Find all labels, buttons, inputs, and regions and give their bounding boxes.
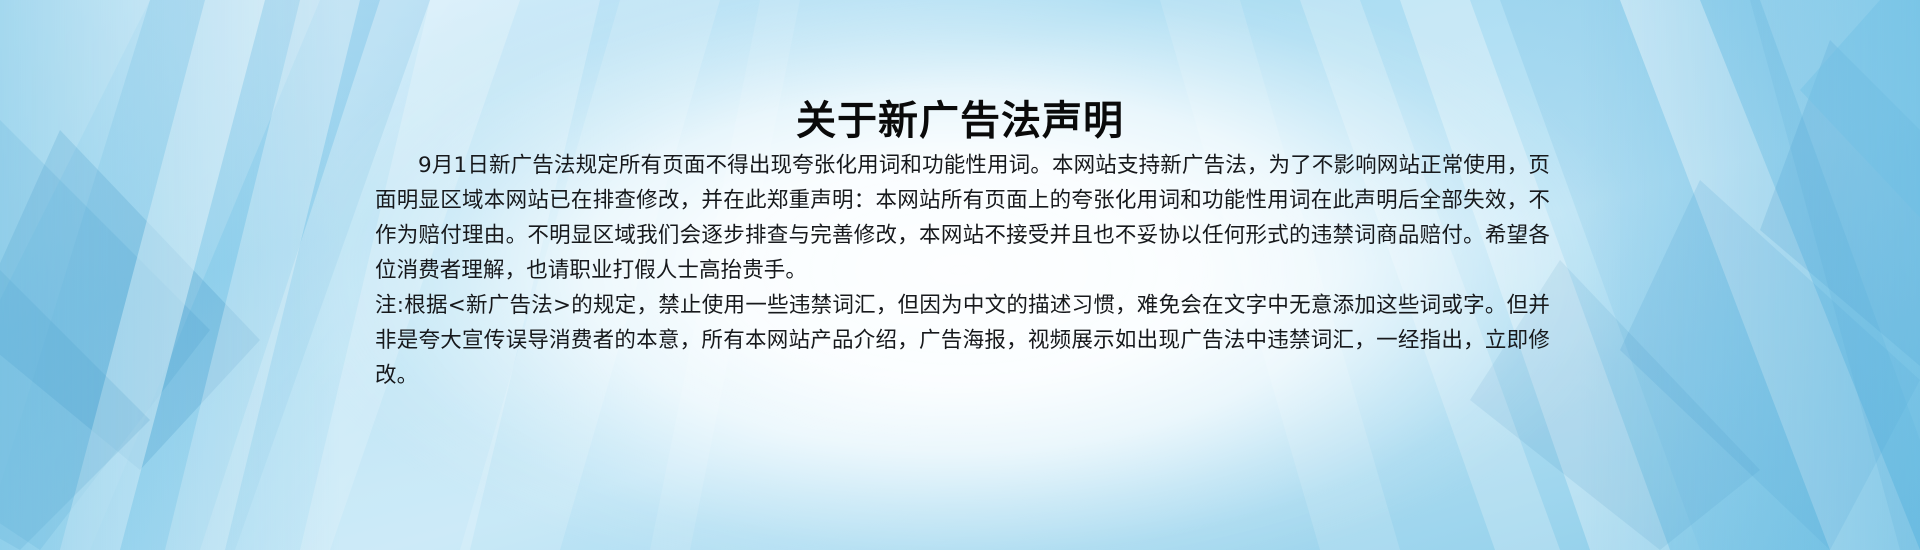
- statement-paragraph-note: 注:根据<新广告法>的规定，禁止使用一些违禁词汇，但因为中文的描述习惯，难免会在…: [375, 288, 1550, 393]
- advertising-law-statement-banner: 关于新广告法声明 9月1日新广告法规定所有页面不得出现夸张化用词和功能性用词。本…: [0, 0, 1920, 550]
- statement-body: 9月1日新广告法规定所有页面不得出现夸张化用词和功能性用词。本网站支持新广告法，…: [375, 148, 1550, 393]
- page-title: 关于新广告法声明: [0, 88, 1920, 146]
- statement-content: 关于新广告法声明 9月1日新广告法规定所有页面不得出现夸张化用词和功能性用词。本…: [0, 0, 1920, 550]
- statement-paragraph-main: 9月1日新广告法规定所有页面不得出现夸张化用词和功能性用词。本网站支持新广告法，…: [375, 148, 1550, 288]
